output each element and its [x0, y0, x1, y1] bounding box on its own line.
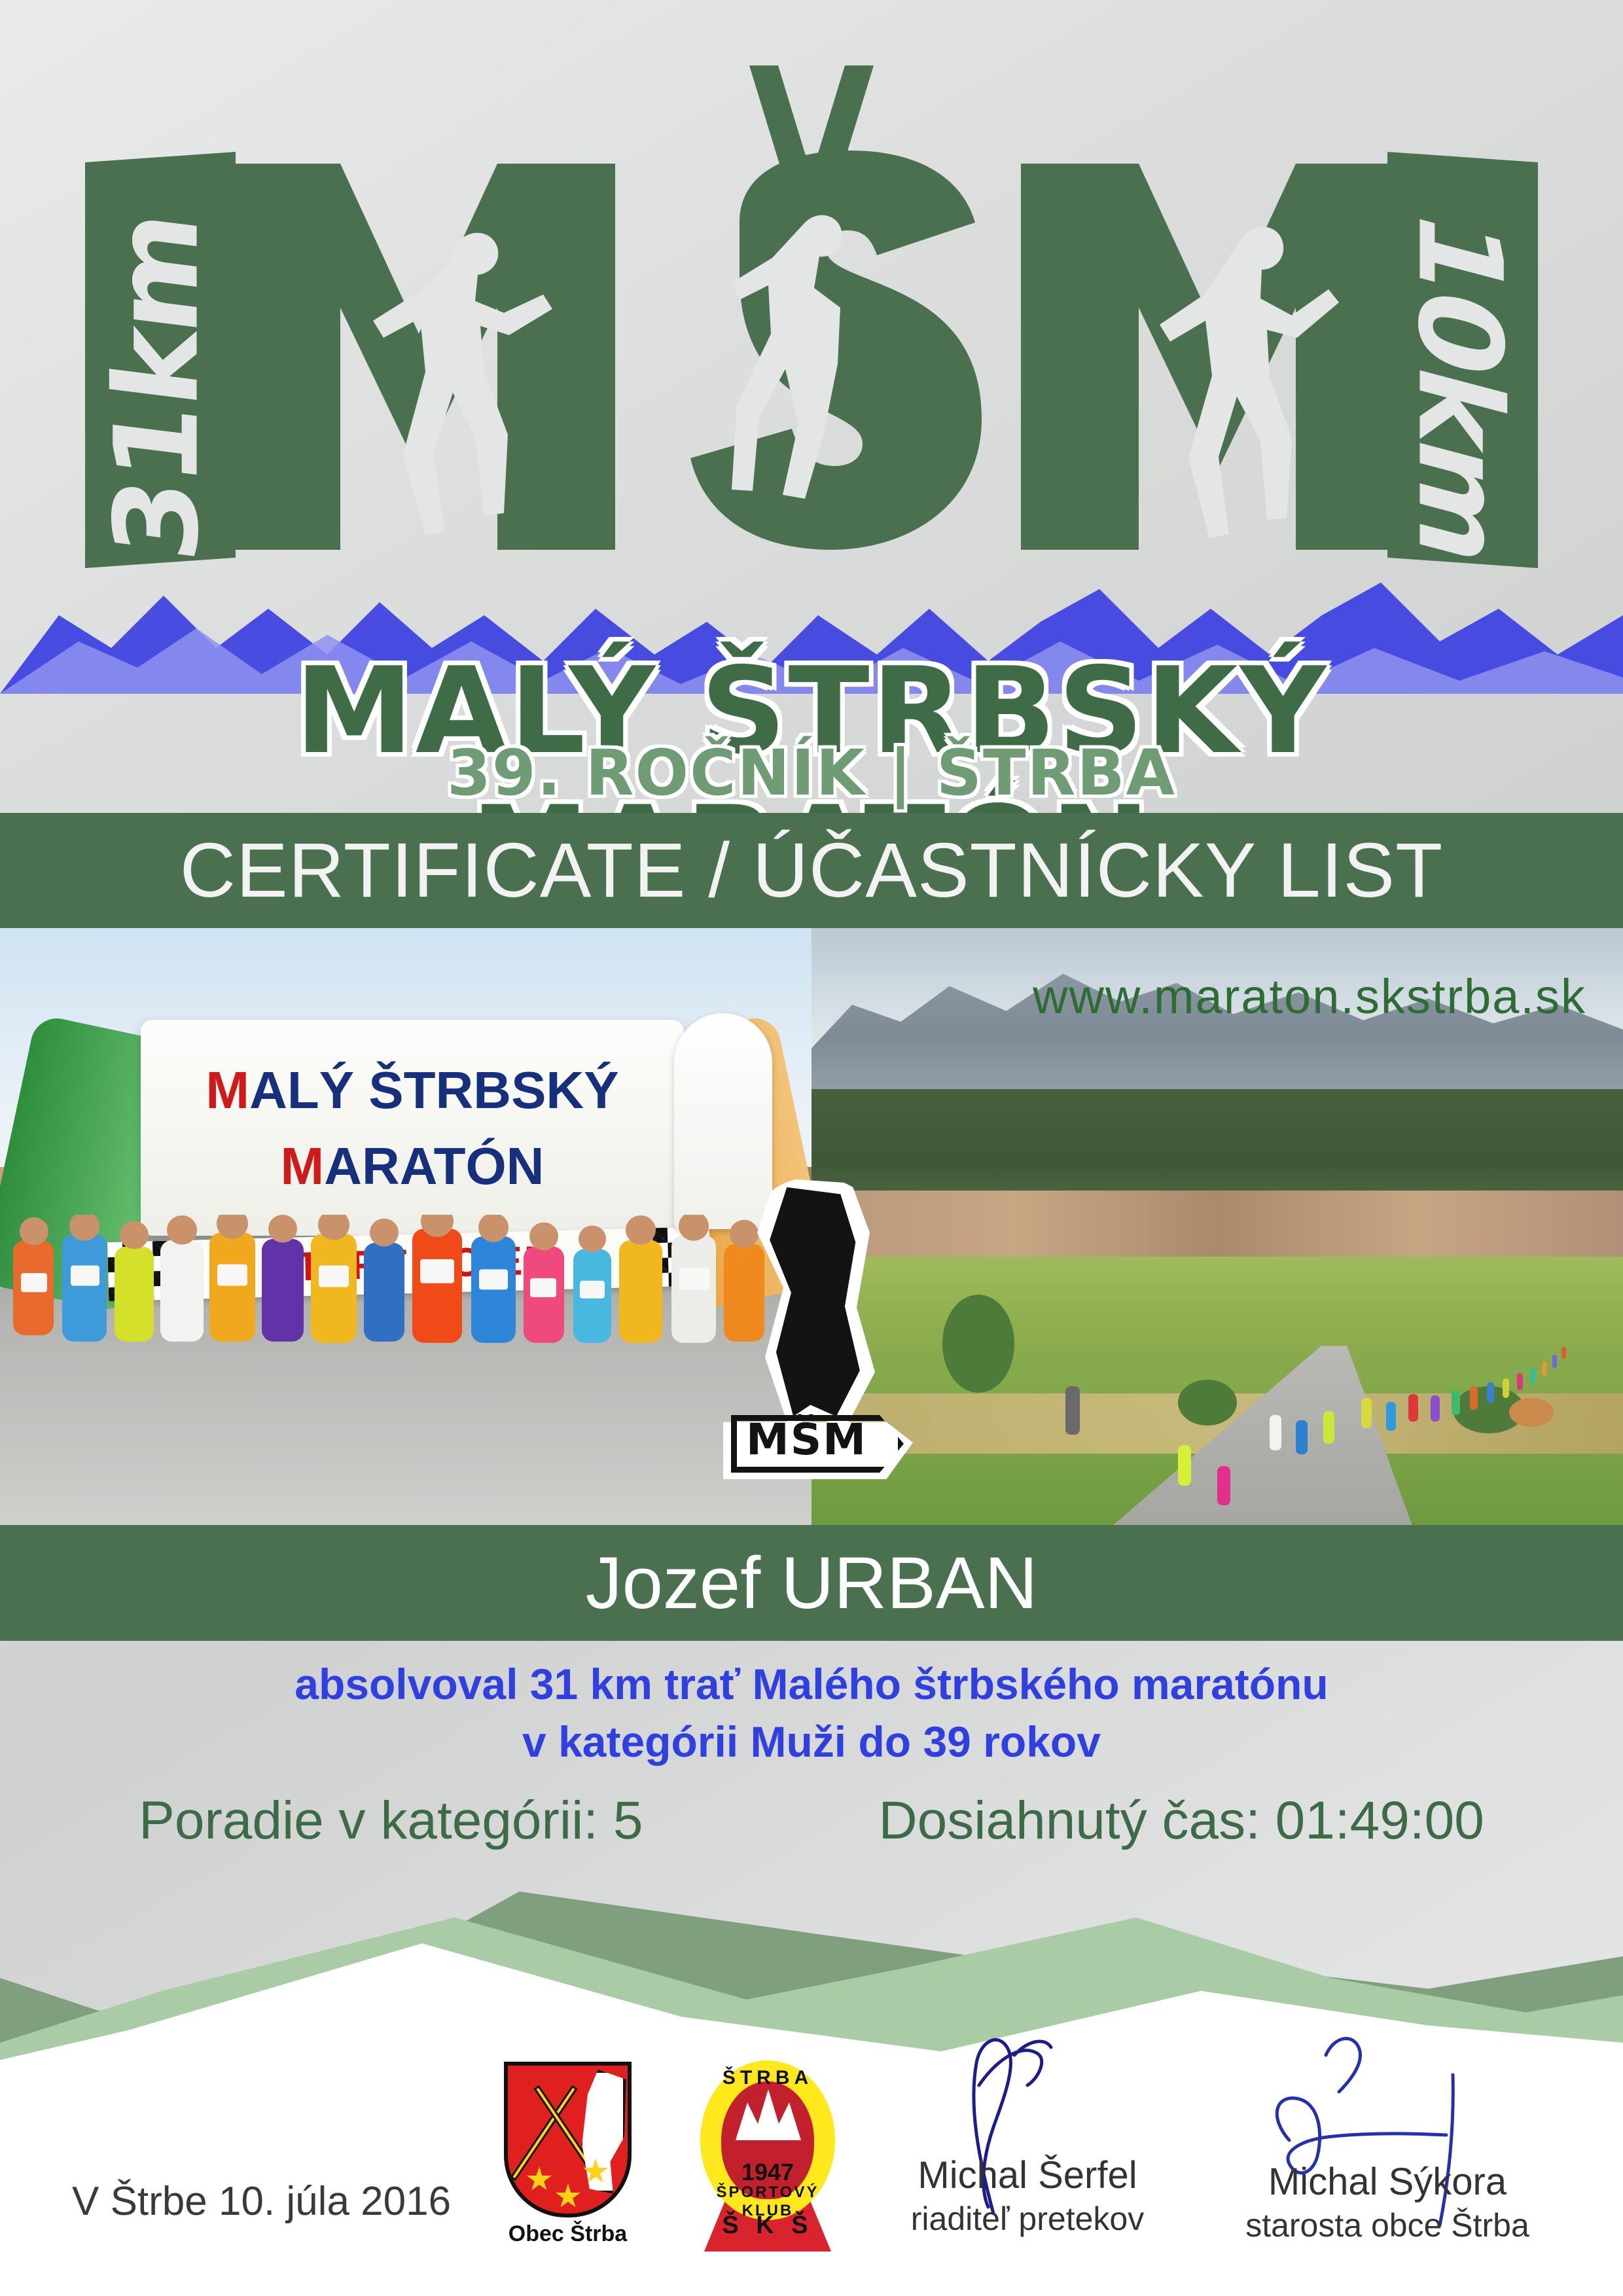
emblem-label: MŠM [723, 1414, 890, 1465]
signature-name: Michal Sýkora [1217, 2160, 1558, 2204]
arch-banner-line1-prefix: M [205, 1061, 249, 1119]
category-rank: Poradie v kategórii: 5 [139, 1790, 643, 1852]
certificate-title-band: CERTIFICATE / ÚČASTNÍCKY LIST [0, 813, 1623, 928]
signature-block-mayor: Michal Sýkora starosta obce Štrba [1217, 2160, 1558, 2244]
arch-banner-line1-rest: ALÝ ŠTRBSKÝ [249, 1061, 619, 1119]
arch-banner: MALÝ ŠTRBSKÝ MARATÓN [141, 1020, 684, 1236]
club-top-text: ŠTRBA [695, 2067, 840, 2089]
crest-label: Obec Štrba [504, 2221, 632, 2247]
msm-logo: 31km 10km [0, 26, 1623, 576]
participant-name-band: Jozef URBAN [0, 1525, 1623, 1641]
signature-name: Michal Šerfel [857, 2153, 1198, 2197]
arch-banner-line2: MARATÓN [141, 1136, 684, 1196]
description-line-1: absolvoval 31 km trať Malého štrbského m… [0, 1656, 1623, 1713]
event-subtitle: 39. ROČNÍK | ŠTRBA [0, 736, 1623, 810]
achievement-description: absolvoval 31 km trať Malého štrbského m… [0, 1656, 1623, 1771]
arch-banner-line2-prefix: M [281, 1137, 325, 1195]
certificate-title: CERTIFICATE / ÚČASTNÍCKY LIST [180, 826, 1443, 915]
logo-zone: 31km 10km [0, 0, 1623, 813]
signature-role: riaditeľ pretekov [857, 2200, 1198, 2238]
issue-date: V Štrbe 10. júla 2016 [72, 2178, 451, 2225]
finish-time: Dosiahnutý čas: 01:49:00 [878, 1790, 1484, 1852]
club-year: 1947 [695, 2159, 840, 2186]
sks-club-logo: ŠTRBA 1947 ŠPORTOVÝ KLUB Š K Š [695, 2055, 840, 2251]
description-line-2: v kategórii Muži do 39 rokov [0, 1713, 1623, 1771]
msm-letterforms [0, 26, 1623, 576]
photo-start-line: MALÝ ŠTRBSKÝ MARATÓN ŠTART - CIEĽ [0, 928, 811, 1525]
signature-block-director: Michal Šerfel riaditeľ pretekov [857, 2153, 1198, 2238]
results-row: Poradie v kategórii: 5 Dosiahnutý čas: 0… [0, 1790, 1623, 1852]
photo-course-landscape: www.maraton.skstrba.sk [811, 928, 1623, 1525]
runner-crowd [0, 1215, 811, 1418]
msm-runner-emblem: MŠM [723, 1178, 913, 1479]
club-bottom-text: Š K Š [695, 2212, 840, 2240]
website-url[interactable]: www.maraton.skstrba.sk [1033, 969, 1586, 1024]
arch-banner-line2-rest: ARATÓN [324, 1137, 544, 1195]
arch-banner-line1: MALÝ ŠTRBSKÝ [141, 1060, 684, 1121]
signature-role: starosta obce Štrba [1217, 2206, 1558, 2244]
obec-strba-crest [504, 2062, 632, 2238]
certificate-page: 31km 10km [0, 0, 1623, 2296]
participant-name: Jozef URBAN [586, 1541, 1038, 1625]
